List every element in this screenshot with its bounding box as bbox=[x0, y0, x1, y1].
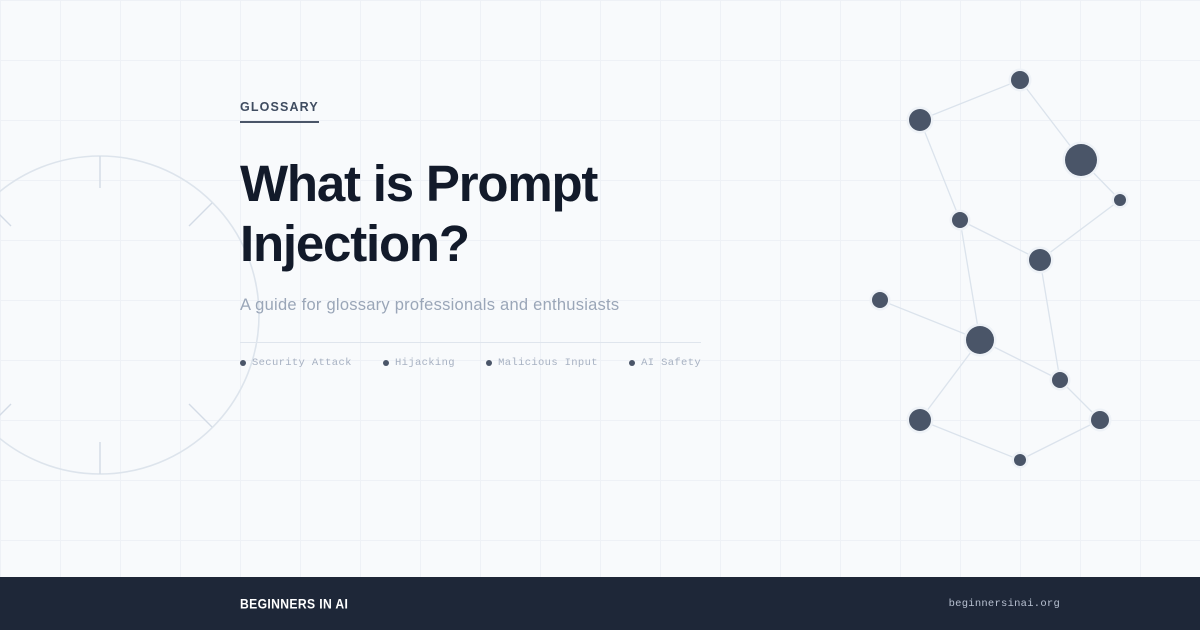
circle-tick-upper-left bbox=[0, 203, 11, 226]
network-node-halo bbox=[1012, 452, 1029, 469]
network-edge bbox=[920, 420, 1020, 460]
tag-dot-icon bbox=[240, 360, 246, 366]
network-node-halo bbox=[950, 210, 971, 231]
circle-tick-lower-left bbox=[0, 404, 11, 427]
network-edge bbox=[880, 300, 980, 340]
tag-label: Security Attack bbox=[252, 357, 352, 369]
decorative-circle-ticks bbox=[0, 156, 212, 474]
network-node-halo bbox=[1063, 142, 1100, 179]
tag-dot-icon bbox=[629, 360, 635, 366]
network-edge bbox=[1020, 420, 1100, 460]
tag-label: Hijacking bbox=[395, 357, 455, 369]
tag-label: AI Safety bbox=[641, 357, 701, 369]
network-edge bbox=[920, 340, 980, 420]
network-edge bbox=[920, 120, 960, 220]
network-edge bbox=[980, 340, 1060, 380]
poster-canvas: GLOSSARY What is Prompt Injection? A gui… bbox=[0, 0, 1200, 630]
tag-list: Security AttackHijackingMalicious InputA… bbox=[240, 357, 701, 369]
network-node bbox=[872, 292, 888, 308]
tag-item[interactable]: AI Safety bbox=[629, 357, 701, 369]
network-graph-graphic bbox=[820, 30, 1200, 500]
tag-item[interactable]: Hijacking bbox=[383, 357, 455, 369]
category-eyebrow: GLOSSARY bbox=[240, 101, 319, 123]
tag-dot-icon bbox=[383, 360, 389, 366]
network-node bbox=[966, 326, 994, 354]
network-node-halo bbox=[1009, 69, 1032, 92]
network-edge bbox=[1040, 200, 1120, 260]
network-node bbox=[1014, 454, 1026, 466]
network-node bbox=[1114, 194, 1126, 206]
network-edge bbox=[920, 80, 1020, 120]
page-title: What is Prompt Injection? bbox=[240, 154, 670, 274]
network-node-halo bbox=[907, 107, 934, 134]
network-edge bbox=[1020, 80, 1081, 160]
network-node-halo bbox=[964, 324, 997, 357]
tag-item[interactable]: Security Attack bbox=[240, 357, 352, 369]
content-divider bbox=[240, 342, 701, 343]
network-edge bbox=[1081, 160, 1120, 200]
network-node-halo bbox=[1027, 247, 1054, 274]
network-node bbox=[1091, 411, 1109, 429]
network-nodes bbox=[870, 69, 1129, 469]
network-edge bbox=[1060, 380, 1100, 420]
network-node-halo bbox=[907, 407, 934, 434]
network-node-halo bbox=[1089, 409, 1112, 432]
circle-tick-upper-right bbox=[189, 203, 212, 226]
network-node bbox=[952, 212, 968, 228]
network-edge bbox=[1040, 260, 1060, 380]
network-edges bbox=[880, 80, 1120, 460]
network-edge bbox=[960, 220, 1040, 260]
network-node-halo bbox=[1112, 192, 1129, 209]
network-node bbox=[1029, 249, 1051, 271]
decorative-circle-graphic bbox=[0, 155, 260, 475]
network-node bbox=[909, 409, 931, 431]
hero-content: GLOSSARY What is Prompt Injection? A gui… bbox=[240, 98, 720, 369]
network-edge bbox=[960, 220, 980, 340]
footer-brand: BEGINNERS IN AI bbox=[240, 596, 360, 611]
footer-bar: BEGINNERS IN AI beginnersinai.org bbox=[0, 577, 1200, 630]
tag-item[interactable]: Malicious Input bbox=[486, 357, 598, 369]
network-node-halo bbox=[870, 290, 891, 311]
page-subtitle: A guide for glossary professionals and e… bbox=[240, 295, 720, 316]
circle-tick-lower-right bbox=[189, 404, 212, 427]
network-node bbox=[1065, 144, 1097, 176]
network-node-halo bbox=[1050, 370, 1071, 391]
footer-brand-label: BEGINNERS IN AI bbox=[240, 596, 348, 611]
tag-dot-icon bbox=[486, 360, 492, 366]
network-node bbox=[1011, 71, 1029, 89]
tag-label: Malicious Input bbox=[498, 357, 598, 369]
decorative-circle-outline bbox=[0, 156, 259, 474]
footer-url: beginnersinai.org bbox=[949, 598, 1060, 610]
network-node bbox=[909, 109, 931, 131]
network-node bbox=[1052, 372, 1068, 388]
